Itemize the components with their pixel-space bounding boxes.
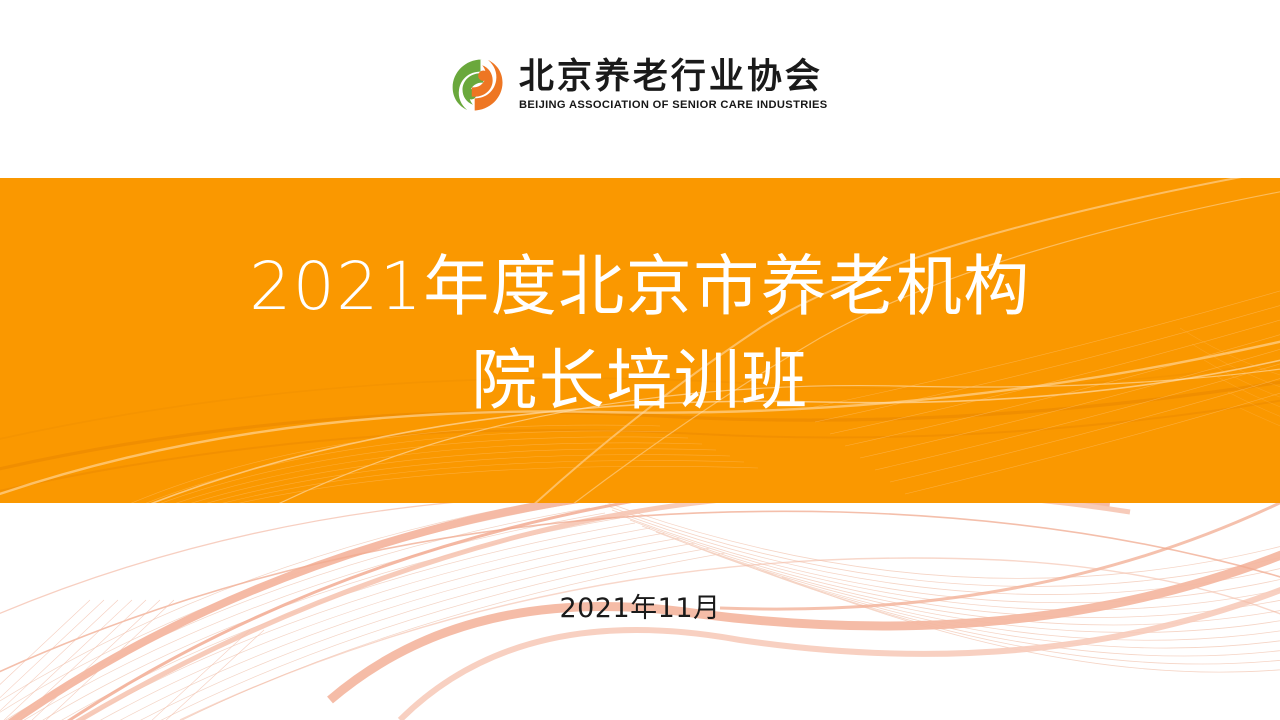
slide-header: 北京养老行业协会 BEIJING ASSOCIATION OF SENIOR C… [0, 0, 1280, 178]
slide-title: 2021年度北京市养老机构 院长培训班 [0, 178, 1280, 503]
title-line-1: 2021年度北京市养老机构 [249, 240, 1030, 334]
organization-name-chinese: 北京养老行业协会 [519, 59, 823, 96]
title-slide: 北京养老行业协会 BEIJING ASSOCIATION OF SENIOR C… [0, 0, 1280, 720]
logo-text-block: 北京养老行业协会 BEIJING ASSOCIATION OF SENIOR C… [519, 59, 832, 112]
organization-name-english: BEIJING ASSOCIATION OF SENIOR CARE INDUS… [519, 99, 828, 111]
association-emblem-icon [448, 56, 506, 114]
title-line-2: 院长培训班 [471, 334, 809, 428]
slide-date: 2021年11月 [0, 586, 1280, 625]
organization-logo: 北京养老行业协会 BEIJING ASSOCIATION OF SENIOR C… [448, 56, 832, 114]
